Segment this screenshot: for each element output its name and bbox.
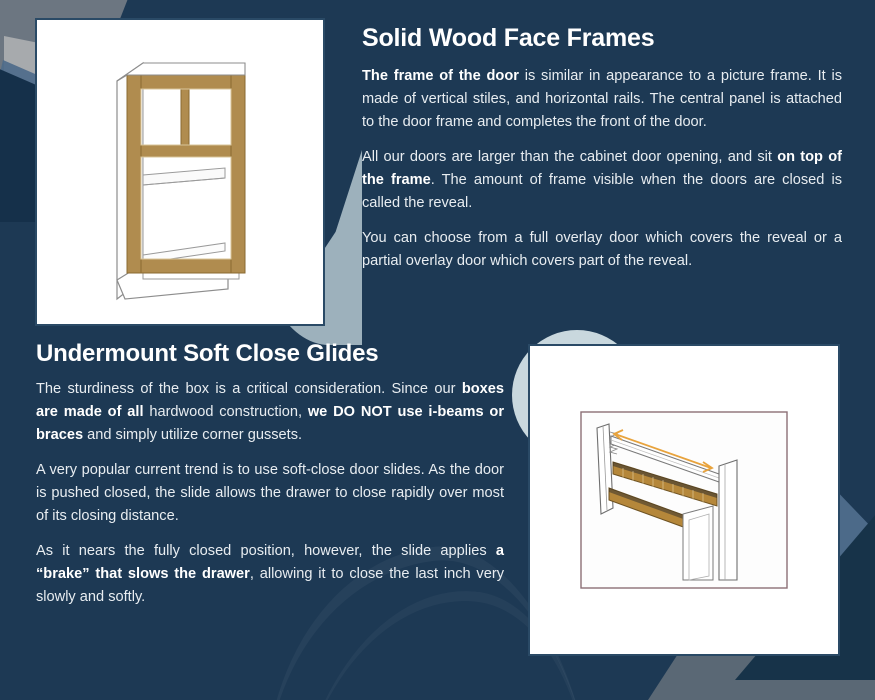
body-text: All our doors are larger than the cabine… bbox=[362, 149, 777, 165]
paragraph: As it nears the fully closed position, h… bbox=[36, 540, 504, 609]
solid-wood-face-frames-section: Solid Wood Face Frames The frame of the … bbox=[362, 24, 842, 273]
drawer-glide-diagram bbox=[579, 410, 789, 590]
body-text: hardwood construction, bbox=[144, 404, 308, 420]
body-text: A very popular current trend is to use s… bbox=[36, 462, 504, 524]
body-text: You can choose from a full overlay door … bbox=[362, 230, 842, 269]
heading-undermount-soft-close-glides: Undermount Soft Close Glides bbox=[36, 340, 504, 368]
cabinet-face-frame-illustration bbox=[55, 37, 305, 307]
body-text: and simply utilize corner gussets. bbox=[83, 427, 302, 443]
paragraph: You can choose from a full overlay door … bbox=[362, 227, 842, 273]
paragraph: A very popular current trend is to use s… bbox=[36, 459, 504, 528]
paragraphs-undermount-soft-close-glides: The sturdiness of the box is a critical … bbox=[36, 378, 504, 609]
body-text: . The amount of frame visible when the d… bbox=[362, 172, 842, 211]
cabinet-face-frame-image-panel bbox=[35, 18, 325, 326]
paragraph: All our doors are larger than the cabine… bbox=[362, 146, 842, 215]
drawer-glide-image-panel bbox=[528, 344, 840, 656]
paragraph: The frame of the door is similar in appe… bbox=[362, 65, 842, 134]
heading-solid-wood-face-frames: Solid Wood Face Frames bbox=[362, 24, 842, 53]
body-text: The sturdiness of the box is a critical … bbox=[36, 381, 462, 397]
undermount-soft-close-glides-section: Undermount Soft Close Glides The sturdin… bbox=[36, 340, 504, 609]
paragraphs-solid-wood-face-frames: The frame of the door is similar in appe… bbox=[362, 65, 842, 273]
paragraph: The sturdiness of the box is a critical … bbox=[36, 378, 504, 447]
body-text: As it nears the fully closed position, h… bbox=[36, 543, 496, 559]
emphasis-text: The frame of the door bbox=[362, 68, 519, 84]
